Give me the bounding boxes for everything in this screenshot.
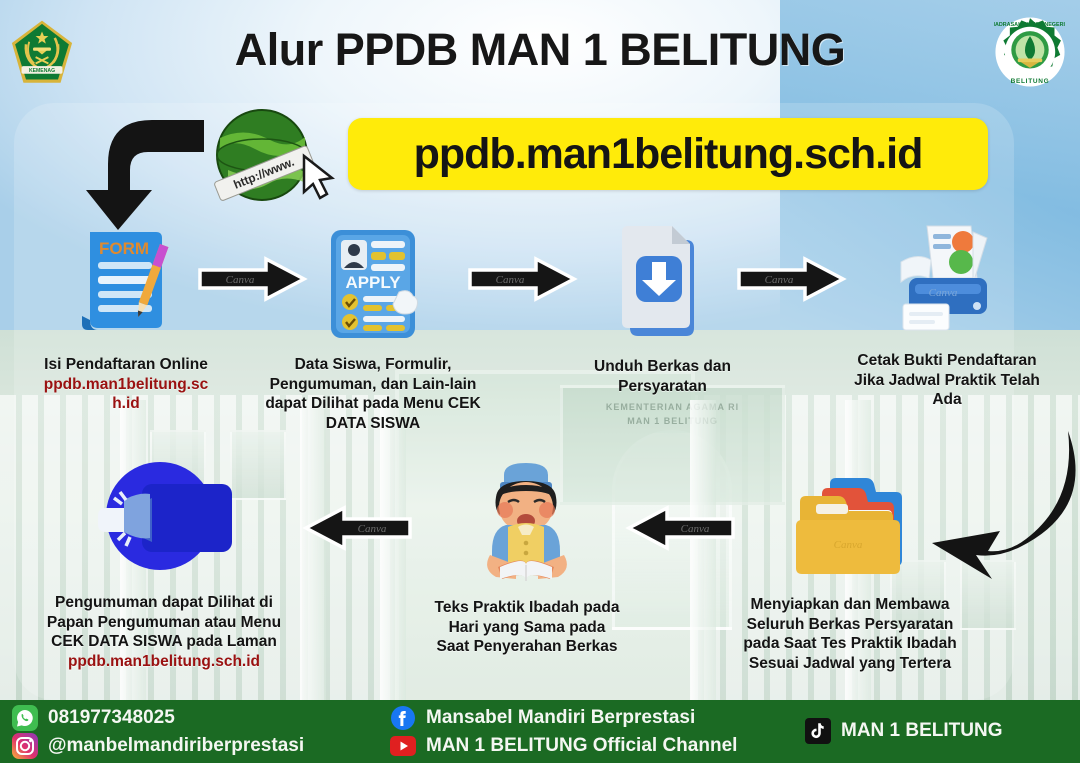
- step-3-caption: Unduh Berkas dan Persyaratan: [555, 357, 770, 396]
- contact-youtube[interactable]: MAN 1 BELITUNG Official Channel: [390, 733, 737, 759]
- contact-facebook-text: Mansabel Mandiri Berprestasi: [426, 707, 695, 729]
- flow-arrow-right-3-icon: Canva: [735, 256, 847, 302]
- step-5-caption: Menyiapkan dan Membawa Seluruh Berkas Pe…: [726, 595, 974, 673]
- whatsapp-icon: [12, 705, 38, 731]
- svg-text:FORM: FORM: [99, 239, 149, 258]
- boy-reading-quran-icon: [468, 455, 586, 585]
- svg-text:BELITUNG: BELITUNG: [1011, 78, 1050, 85]
- instagram-icon: [12, 733, 38, 759]
- contact-whatsapp[interactable]: 081977348025: [12, 705, 304, 731]
- form-clipboard-icon: FORM: [76, 228, 176, 340]
- step-2-cek-data-siswa: APPLY Data Siswa, Formulir, Pengumuman, …: [248, 228, 498, 433]
- folders-icon: Canva: [790, 462, 910, 584]
- download-document-icon: [616, 222, 710, 340]
- footer-col-middle: Mansabel Mandiri Berprestasi MAN 1 BELIT…: [390, 705, 737, 761]
- contact-youtube-text: MAN 1 BELITUNG Official Channel: [426, 735, 737, 757]
- flow-arrow-left-2-icon: Canva: [302, 505, 414, 551]
- footer-col-left: 081977348025 @manbelmandiriberprestasi: [12, 705, 304, 761]
- footer-contact-bar: 081977348025 @manbelmandiriberprestasi: [0, 700, 1080, 763]
- step-7-pengumuman: Pengumuman dapat Dilihat di Papan Pengum…: [34, 462, 294, 671]
- youtube-icon: [390, 733, 416, 759]
- contact-instagram-text: @manbelmandiriberprestasi: [48, 735, 304, 757]
- svg-text:Canva: Canva: [358, 523, 387, 535]
- url-text: ppdb.man1belitung.sch.id: [414, 130, 923, 179]
- svg-text:Canva: Canva: [834, 539, 863, 551]
- megaphone-announcement-icon: [84, 462, 244, 584]
- step-6-caption: Teks Praktik Ibadah pada Hari yang Sama …: [404, 598, 650, 657]
- contact-facebook[interactable]: Mansabel Mandiri Berprestasi: [390, 705, 737, 731]
- kemenag-logo: KEMENAG: [10, 18, 74, 86]
- curved-down-arrow-icon: [86, 112, 211, 234]
- man1belitung-logo: MADRASAH ALIYAH NEGERI 1 BELITUNG: [994, 16, 1066, 88]
- contact-instagram[interactable]: @manbelmandiriberprestasi: [12, 733, 304, 759]
- url-banner[interactable]: ppdb.man1belitung.sch.id: [348, 118, 988, 190]
- tiktok-icon: [805, 718, 831, 744]
- page-title: Alur PPDB MAN 1 BELITUNG: [235, 24, 846, 76]
- facebook-icon: [390, 705, 416, 731]
- infographic-canvas: KEMENTERIAN AGAMA RI MAN 1 BELITUNG Alur…: [0, 0, 1080, 763]
- contact-tiktok[interactable]: MAN 1 BELITUNG: [805, 718, 1003, 744]
- step-4-cetak-bukti: Canva Cetak Bukti Pendaftaran Jika Jadwa…: [838, 218, 1056, 410]
- step-2-caption: Data Siswa, Formulir, Pengumuman, dan La…: [248, 355, 498, 433]
- printer-icon: Canva: [887, 218, 1007, 338]
- step-1-caption: Isi Pendaftaran Online ppdb.man1belitung…: [12, 355, 240, 414]
- globe-www-icon: http://www.: [200, 108, 345, 203]
- svg-text:Canva: Canva: [765, 274, 794, 286]
- svg-text:MADRASAH ALIYAH NEGERI 1: MADRASAH ALIYAH NEGERI 1: [994, 22, 1066, 28]
- contact-tiktok-text: MAN 1 BELITUNG: [841, 720, 1003, 742]
- step-4-caption: Cetak Bukti Pendaftaran Jika Jadwal Prak…: [838, 351, 1056, 410]
- header: Alur PPDB MAN 1 BELITUNG: [0, 0, 1080, 100]
- svg-text:KEMENAG: KEMENAG: [29, 68, 55, 74]
- footer-col-right: MAN 1 BELITUNG: [805, 718, 1003, 746]
- svg-text:Canva: Canva: [929, 287, 958, 299]
- step-7-caption: Pengumuman dapat Dilihat di Papan Pengum…: [34, 593, 294, 671]
- step-5-membawa-berkas: Canva Menyiapkan dan Membawa Seluruh Ber…: [726, 462, 974, 673]
- contact-whatsapp-text: 081977348025: [48, 707, 175, 729]
- apply-form-icon: APPLY: [325, 228, 421, 340]
- step-3-unduh-berkas: Unduh Berkas dan Persyaratan: [555, 222, 770, 396]
- svg-text:Canva: Canva: [681, 523, 710, 535]
- svg-text:Canva: Canva: [496, 274, 525, 286]
- svg-text:APPLY: APPLY: [345, 273, 401, 292]
- step-6-tes-praktik-ibadah: Teks Praktik Ibadah pada Hari yang Sama …: [404, 455, 650, 657]
